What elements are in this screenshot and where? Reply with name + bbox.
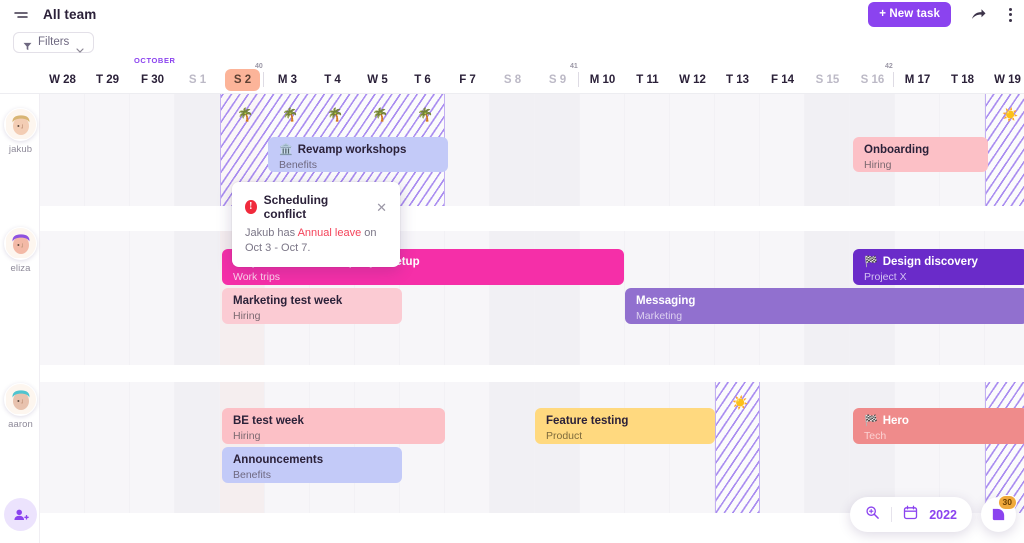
date-header-cell[interactable]: F 30 (130, 69, 175, 91)
pill-divider (891, 507, 892, 522)
task-title: Messaging (636, 295, 695, 308)
sort-icon[interactable] (12, 6, 30, 24)
person-eliza[interactable]: eliza (4, 227, 37, 274)
person-aaron[interactable]: aaron (4, 383, 37, 430)
task-bar-title-row: 🏁Hero (864, 415, 1018, 428)
task-subtitle: Hiring (864, 158, 978, 172)
leave-emoji-icon: 🌴 (282, 108, 298, 121)
date-header-cell[interactable]: T 11 (625, 69, 670, 91)
task-emoji-icon: 🏛️ (279, 144, 293, 157)
task-subtitle: Marketing (636, 309, 1018, 323)
date-header-cell[interactable]: M 3 (265, 69, 310, 91)
tooltip-highlight: Annual leave (298, 227, 362, 239)
date-header-cell[interactable]: W 5 (355, 69, 400, 91)
date-header-cell[interactable]: W 12 (670, 69, 715, 91)
filters-button[interactable]: Filters (13, 32, 94, 53)
person-row-band (40, 382, 1024, 513)
timeline-app: All team + New task Filters (0, 0, 1024, 543)
notifications-button[interactable]: 30 (981, 497, 1016, 532)
people-sidebar: jakubelizaaaron (0, 94, 40, 543)
date-header-cell[interactable]: S 1 (175, 69, 220, 91)
date-header-cell[interactable]: T 4 (310, 69, 355, 91)
task-bar[interactable]: AnnouncementsBenefits (222, 447, 402, 483)
new-task-button[interactable]: + New task (868, 2, 951, 27)
task-bar-title-row: Onboarding (864, 144, 978, 157)
task-bar-title-row: Messaging (636, 295, 1018, 308)
task-bar[interactable]: BE test weekHiring (222, 408, 445, 444)
date-header-cell[interactable]: T 6 (400, 69, 445, 91)
task-subtitle: Project X (864, 270, 1018, 284)
calendar-icon[interactable] (903, 505, 918, 525)
leave-block: ☀️ (985, 94, 1024, 206)
task-bar-title-row: 🏛️Revamp workshops (279, 144, 438, 157)
date-header-cell[interactable]: S 16 (850, 69, 895, 91)
add-person-icon (13, 507, 29, 523)
zoom-search-icon[interactable] (865, 505, 880, 525)
date-header-cell[interactable]: S 8 (490, 69, 535, 91)
task-bar-title-row: 🏁Design discovery (864, 256, 1018, 269)
date-header-cell[interactable]: T 18 (940, 69, 985, 91)
date-header-cell[interactable]: W 28 (40, 69, 85, 91)
alert-icon: ! (245, 200, 257, 214)
week-number: 40 (255, 63, 263, 70)
date-header-cell[interactable]: S 15 (805, 69, 850, 91)
task-title: Hero (883, 415, 909, 428)
task-subtitle: Product (546, 429, 705, 443)
row-gap (40, 206, 1024, 231)
task-subtitle: Benefits (233, 468, 392, 482)
task-bar[interactable]: OnboardingHiring (853, 137, 988, 172)
tooltip-header: ! Scheduling conflict ✕ (245, 193, 387, 221)
notification-count-badge: 30 (998, 495, 1017, 510)
leave-block (985, 382, 1024, 513)
timeline-body: 🌴🌴🌴🌴🌴☀️☀️🏛️Revamp workshopsBenefitsOnboa… (0, 94, 1024, 543)
leave-emoji-icon: ☀️ (732, 396, 748, 409)
task-emoji-icon: 🏁 (864, 415, 878, 428)
task-subtitle: Hiring (233, 309, 392, 323)
funnel-icon (23, 38, 32, 47)
floating-controls: 2022 30 (850, 497, 1016, 532)
date-header-cell[interactable]: W 19 (985, 69, 1024, 91)
task-title: Announcements (233, 454, 323, 467)
tooltip-title: Scheduling conflict (264, 193, 356, 221)
week-divider (893, 72, 894, 87)
task-emoji-icon: 🏁 (864, 256, 878, 269)
date-header-cell[interactable]: M 10 (580, 69, 625, 91)
close-icon[interactable]: ✕ (362, 201, 387, 214)
page-title: All team (43, 7, 96, 22)
task-title: Feature testing (546, 415, 628, 428)
task-title: Revamp workshops (298, 144, 407, 157)
person-name: eliza (4, 263, 37, 274)
zoom-year-pill[interactable]: 2022 (850, 497, 972, 532)
task-title: Design discovery (883, 256, 978, 269)
tooltip-text: Jakub has Annual leave on Oct 3 - Oct 7. (245, 226, 387, 255)
leave-emoji-icon: 🌴 (417, 108, 433, 121)
filter-bar: Filters (0, 29, 1024, 55)
person-name: jakub (4, 144, 37, 155)
date-header-cell[interactable]: S 2 (225, 69, 260, 91)
timeline-grid: 🌴🌴🌴🌴🌴☀️☀️🏛️Revamp workshopsBenefitsOnboa… (40, 94, 1024, 543)
task-bar-title-row: Feature testing (546, 415, 705, 428)
task-bar[interactable]: 🏁Design discoveryProject X (853, 249, 1024, 285)
top-bar-actions: + New task (868, 2, 1024, 27)
week-number: 41 (570, 63, 578, 70)
week-number: 42 (885, 63, 893, 70)
task-title: Marketing test week (233, 295, 342, 308)
date-header: OCTOBERW 28T 29F 30S 1S 2M 3T 4W 5T 6F 7… (0, 55, 1024, 94)
top-bar: All team + New task (0, 0, 1024, 29)
kebab-menu-icon[interactable] (1005, 6, 1015, 24)
person-name: aaron (4, 419, 37, 430)
task-bar-title-row: Announcements (233, 454, 392, 467)
share-icon[interactable] (969, 6, 987, 24)
task-bar[interactable]: 🏛️Revamp workshopsBenefits (268, 137, 448, 172)
task-bar-title-row: BE test week (233, 415, 435, 428)
date-header-cell[interactable]: F 14 (760, 69, 805, 91)
chevron-down-icon (76, 40, 84, 45)
leave-block: ☀️ (715, 382, 760, 513)
task-subtitle: Hiring (233, 429, 435, 443)
add-person-button[interactable] (4, 498, 37, 531)
row-gap (40, 365, 1024, 382)
tooltip-text-before: Jakub has (245, 227, 298, 239)
task-bar-title-row: Marketing test week (233, 295, 392, 308)
leave-emoji-icon: 🌴 (327, 108, 343, 121)
task-subtitle: Tech (864, 429, 1018, 443)
task-bar[interactable]: Feature testingProduct (535, 408, 715, 444)
person-jakub[interactable]: jakub (4, 108, 37, 155)
week-divider (578, 72, 579, 87)
avatar[interactable] (4, 108, 37, 141)
filters-label: Filters (38, 36, 69, 48)
year-label: 2022 (929, 508, 957, 522)
task-bar[interactable]: Marketing test weekHiring (222, 288, 402, 324)
date-header-cell[interactable]: F 7 (445, 69, 490, 91)
date-header-cell[interactable]: T 13 (715, 69, 760, 91)
week-divider (263, 72, 264, 87)
task-subtitle: Benefits (279, 158, 438, 172)
avatar[interactable] (4, 227, 37, 260)
date-header-cell[interactable]: S 9 (535, 69, 580, 91)
date-header-cell[interactable]: T 29 (85, 69, 130, 91)
task-title: BE test week (233, 415, 304, 428)
task-bar[interactable]: MessagingMarketing (625, 288, 1024, 324)
leave-emoji-icon: 🌴 (372, 108, 388, 121)
avatar[interactable] (4, 383, 37, 416)
leave-emoji-icon: ☀️ (1002, 108, 1018, 121)
task-bar[interactable]: 🏁HeroTech (853, 408, 1024, 444)
leave-emoji-icon: 🌴 (237, 108, 253, 121)
date-header-cell[interactable]: M 17 (895, 69, 940, 91)
month-label: OCTOBER (134, 56, 176, 65)
scheduling-conflict-tooltip: ! Scheduling conflict ✕ Jakub has Annual… (232, 182, 400, 267)
task-title: Onboarding (864, 144, 929, 157)
task-subtitle: Work trips (233, 270, 614, 284)
